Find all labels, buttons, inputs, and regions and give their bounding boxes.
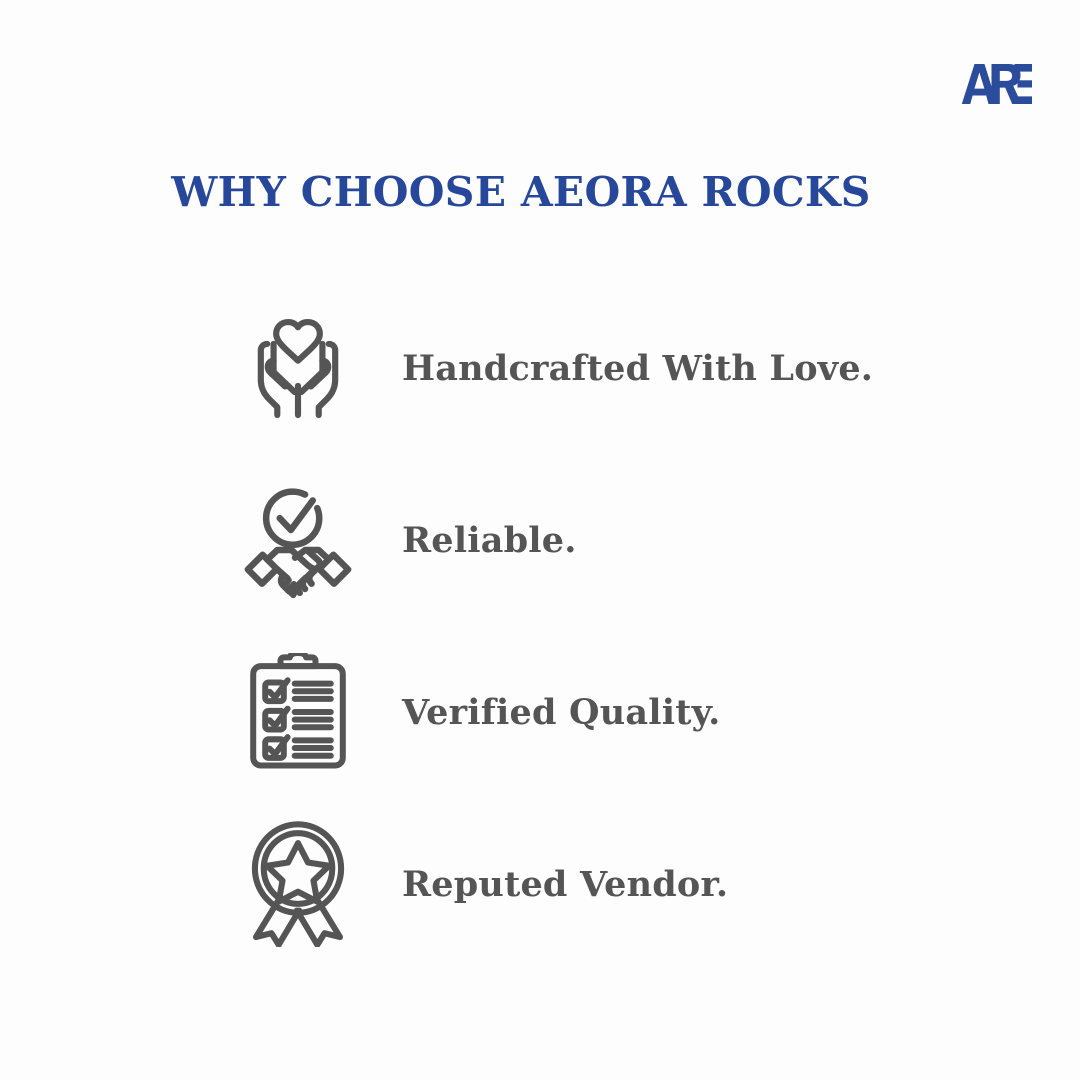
list-item: Reliable. (236, 454, 936, 626)
award-ribbon-star-icon (236, 822, 360, 946)
list-item-label: Reputed Vendor. (360, 864, 936, 905)
heart-in-hands-icon (236, 306, 360, 430)
list-item: Verified Quality. (236, 626, 936, 798)
list-item: Reputed Vendor. (236, 798, 936, 970)
list-item-label: Verified Quality. (360, 692, 936, 733)
are-logo[interactable] (960, 62, 1032, 106)
handshake-check-icon (236, 478, 360, 602)
clipboard-checklist-icon (236, 650, 360, 774)
poster-canvas: WHY CHOOSE AEORA ROCKS (0, 0, 1080, 1080)
list-item-label: Handcrafted With Love. (360, 348, 936, 389)
feature-list: Handcrafted With Love. (236, 282, 936, 970)
page-title: WHY CHOOSE AEORA ROCKS (0, 168, 1080, 216)
list-item: Handcrafted With Love. (236, 282, 936, 454)
list-item-label: Reliable. (360, 520, 936, 561)
